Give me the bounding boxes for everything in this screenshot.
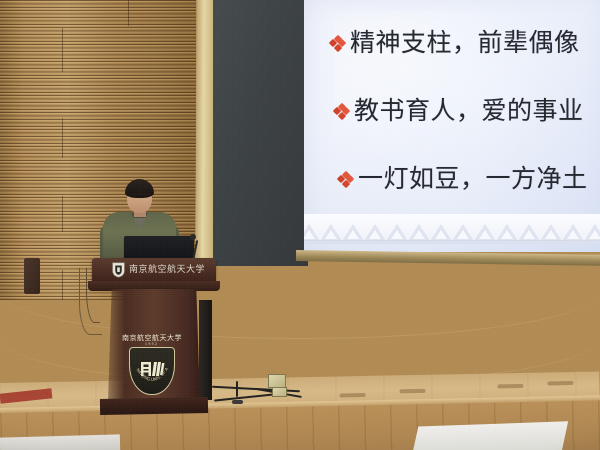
screen-bottom-edge [296, 250, 600, 266]
slide-content: 精神支柱，前辈偶像 教书育人，爱的事业 一灯如豆，一方净土 [304, 0, 600, 212]
slide-bullet-line: 一灯如豆，一方净土 [304, 144, 600, 212]
shield-logo-icon [112, 262, 125, 278]
slide-bullet-line: 教书育人，爱的事业 [304, 76, 600, 144]
white-stage-object [412, 421, 568, 450]
crest-ring-text: NANJING UNIV. OF AERONAUTICS [130, 348, 174, 394]
crest-shield: NANJING UNIV. OF AERONAUTICS [129, 347, 175, 395]
podium-base [100, 397, 208, 415]
lecture-hall-photo: 精神支柱，前辈偶像 教书育人，爱的事业 一灯如豆，一方净土 [0, 0, 600, 450]
dark-side-pillar [199, 300, 212, 400]
four-diamond-bullet-icon [330, 36, 345, 51]
floor-junction-box [268, 374, 286, 388]
podium-hanging-cable-secondary [86, 268, 100, 323]
stage-cable-connector [232, 400, 243, 404]
triangular-frieze-band [304, 214, 600, 244]
podium-microphone-head [190, 234, 196, 240]
nuaa-crest: 南京航空航天大学 1 9 5 2 NANJING UNIV. OF AERONA… [122, 333, 180, 395]
floor-junction-box [272, 387, 287, 397]
four-diamond-bullet-icon [334, 104, 349, 119]
crest-subtitle: 1 9 5 2 [122, 342, 180, 346]
screen-frame-left [195, 0, 215, 270]
projection-screen: 精神支柱，前辈偶像 教书育人，爱的事业 一灯如豆，一方净土 [304, 0, 600, 252]
slide-line-text: 一灯如豆，一方净土 [358, 166, 588, 191]
white-stage-object-secondary [0, 434, 120, 450]
svg-text:NANJING UNIV. OF AERONAUTICS: NANJING UNIV. OF AERONAUTICS [130, 348, 169, 382]
podium-plate-text: 南京航空航天大学 [129, 264, 207, 276]
slide-bullet-line: 精神支柱，前辈偶像 [304, 8, 600, 76]
glasses-icon [130, 194, 149, 200]
blackboard-panel [213, 0, 308, 266]
wall-speaker-box [24, 258, 40, 294]
slide-line-text: 精神支柱，前辈偶像 [350, 30, 580, 55]
four-diamond-bullet-icon [338, 172, 353, 187]
slide-line-text: 教书育人，爱的事业 [354, 98, 584, 123]
laptop-device [124, 236, 194, 259]
stage-cable [236, 381, 238, 397]
